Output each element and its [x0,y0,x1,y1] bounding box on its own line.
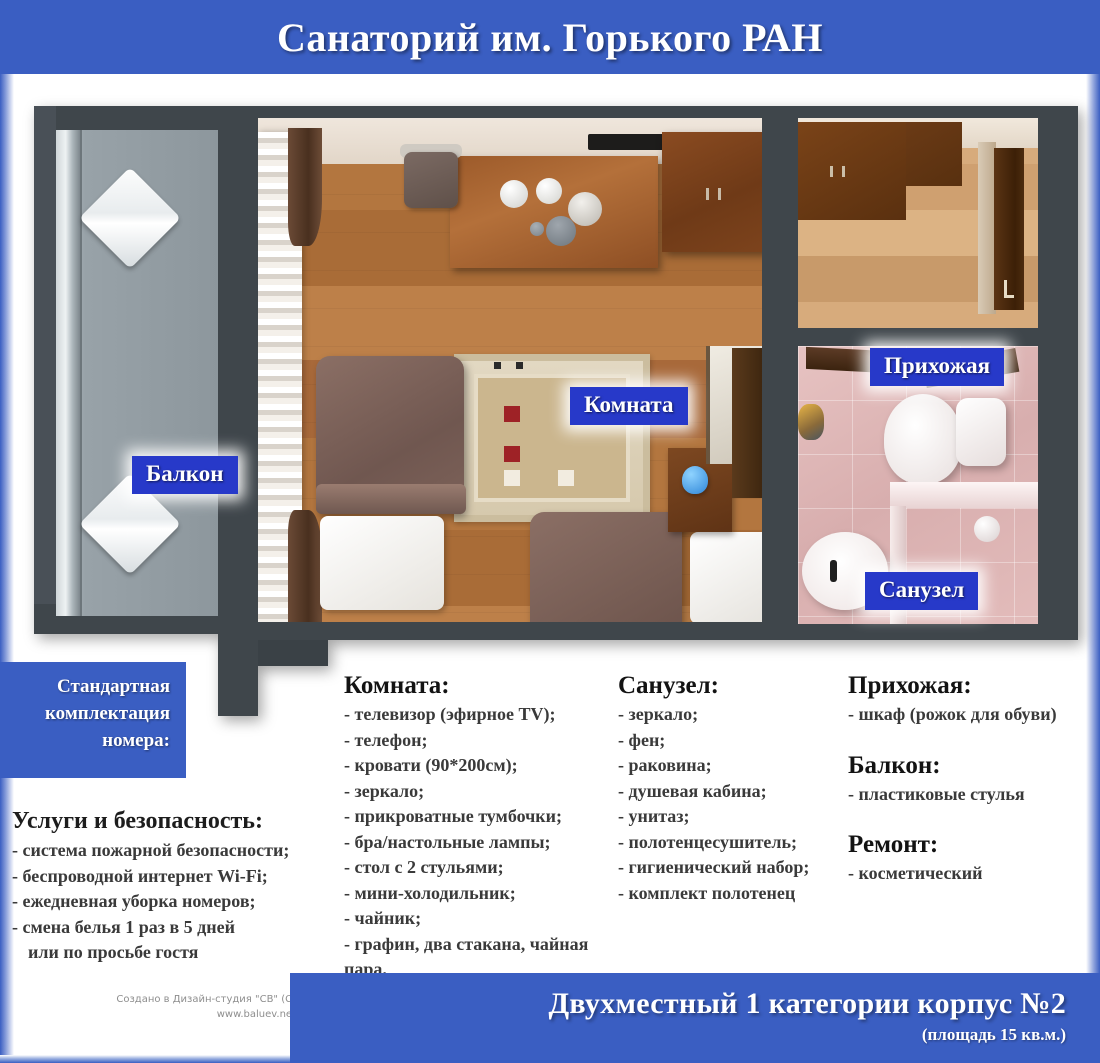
rug-pattern [504,470,520,486]
designer-credit: Создано в Дизайн-студия "СВ" (С) www.bal… [96,992,296,1022]
rug-dot [516,362,523,369]
list-item: или по просьбе гостя [12,940,342,966]
poster-root: Санаторий им. Горького РАН [0,0,1100,1063]
list-item: - чайник; [344,906,612,932]
floor-plan: Балкон Комната Прихожая Санузел [22,96,1078,656]
list-item: - смена белья 1 раз в 5 дней [12,915,342,941]
towel-warmer-icon [798,404,824,440]
credit-line-1: Создано в Дизайн-студия "СВ" (С) [96,992,296,1007]
wall-room-divider [762,106,798,640]
room-area [258,118,762,622]
bed [530,512,682,622]
group-renovation: Ремонт: - косметический [848,831,1092,887]
column-balcony-list: - пластиковые стулья [848,782,1092,808]
list-item: - раковина; [618,753,850,779]
hallway-area [798,118,1038,328]
group-balcony: Балкон: - пластиковые стулья [848,752,1092,808]
rug-pattern [558,470,574,486]
column-hallway-list: - шкаф (рожок для обуви) [848,702,1092,728]
list-item: - телевизор (эфирное TV); [344,702,612,728]
rug-pattern [504,406,520,422]
column-renovation-title: Ремонт: [848,831,1092,859]
cabinet-handle [706,188,709,200]
hallway-wardrobe [798,122,906,220]
wall-hall-bath-divider [798,328,1038,346]
list-item: - пластиковые стулья [848,782,1092,808]
column-hallway-title: Прихожая: [848,672,1092,700]
column-bathroom: Санузел: - зеркало; - фен; - раковина; -… [618,672,850,906]
teapot-icon [568,192,602,226]
list-item: - комплект полотенец [618,881,850,907]
saucer-icon [530,222,544,236]
cup-icon [536,178,562,204]
wall-balcony-divider [218,106,258,716]
footer-room-type: Двухместный 1 категории корпус №2 [290,987,1066,1021]
footer-bar: Двухместный 1 категории корпус №2 (площа… [290,973,1100,1063]
room-chair [404,152,458,208]
list-item: - полотенцесушитель; [618,830,850,856]
column-room-list: - телевизор (эфирное TV); - телефон; - к… [344,702,612,983]
standard-equipment-line-3: номера: [8,728,170,755]
column-renovation-list: - косметический [848,861,1092,887]
curtain-drape [288,510,322,622]
list-item: - беспроводной интернет Wi-Fi; [12,864,342,890]
plan-label-room: Комната [570,387,688,425]
cup-icon [500,180,528,208]
rug-dot [494,362,501,369]
shower-head-icon [974,516,1000,542]
standard-equipment-line-2: комплектация [8,701,170,728]
carafe-icon [546,216,576,246]
credit-line-2: www.baluev.net [96,1007,296,1022]
standard-equipment-box: Стандартная комплектация номера: [0,662,186,778]
dining-table [450,156,658,268]
plan-label-hallway: Прихожая [870,348,1004,386]
wardrobe-handle [842,166,845,177]
plan-label-balcony: Балкон [132,456,238,494]
floor-plan-canvas: Балкон Комната Прихожая Санузел [22,96,1078,656]
pillow [320,516,444,610]
list-item: - унитаз; [618,804,850,830]
plan-label-bathroom: Санузел [865,572,978,610]
wardrobe-handle [830,166,833,177]
wardrobe-cabinet [662,132,762,252]
list-item: - система пожарной безопасности; [12,838,342,864]
footer-room-area: (площадь 15 кв.м.) [290,1025,1066,1045]
curtain-drape [288,128,322,246]
column-right: Прихожая: - шкаф (рожок для обуви) Балко… [848,672,1092,887]
list-item: - гигиенический набор; [618,855,850,881]
column-bathroom-title: Санузел: [618,672,850,700]
coat-hook-icon [1004,280,1014,298]
frame-right-border [1086,0,1100,1063]
group-hallway: Прихожая: - шкаф (рожок для обуви) [848,672,1092,728]
list-item: - зеркало; [618,702,850,728]
pillow [690,532,762,622]
list-item: - бра/настольные лампы; [344,830,612,856]
faucet-icon [830,560,837,582]
cabinet-handle [718,188,721,200]
services-list: - система пожарной безопасности; - беспр… [12,838,342,966]
wall-outer-left [34,106,56,626]
list-item: - мини-холодильник; [344,881,612,907]
list-item: - ежедневная уборка номеров; [12,889,342,915]
page-title: Санаторий им. Горького РАН [277,14,823,61]
list-item: - прикроватные тумбочки; [344,804,612,830]
list-item: - фен; [618,728,850,754]
column-room: Комната: - телевизор (эфирное TV); - тел… [344,672,612,983]
standard-equipment-line-1: Стандартная [8,674,170,701]
list-item: - стол с 2 стульями; [344,855,612,881]
rug-pattern [504,446,520,462]
header-bar: Санаторий им. Горького РАН [0,0,1100,74]
list-item: - зеркало; [344,779,612,805]
balcony-glazing [56,130,82,616]
column-balcony-title: Балкон: [848,752,1092,780]
room-doorway [732,348,762,498]
column-bathroom-list: - зеркало; - фен; - раковина; - душевая … [618,702,850,906]
services-section: Услуги и безопасность: - система пожарно… [12,808,342,966]
list-item: - шкаф (рожок для обуви) [848,702,1092,728]
wall-right [1038,106,1078,640]
shower-tray [890,482,1038,508]
list-item: - косметический [848,861,1092,887]
bed-blanket-fold [316,484,466,514]
services-title: Услуги и безопасность: [12,808,342,835]
column-room-title: Комната: [344,672,612,700]
list-item: - телефон; [344,728,612,754]
list-item: - кровати (90*200см); [344,753,612,779]
toilet-icon [884,394,962,484]
table-lamp [682,466,708,494]
list-item: - душевая кабина; [618,779,850,805]
toilet-tank [956,398,1006,466]
